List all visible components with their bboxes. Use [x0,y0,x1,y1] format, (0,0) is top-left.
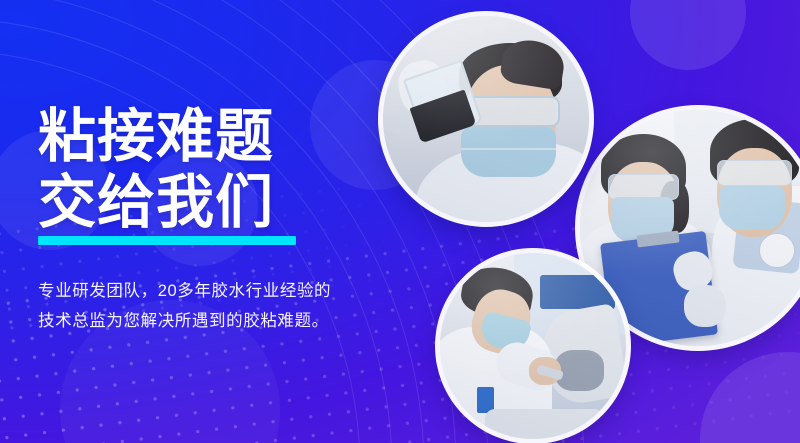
subtitle-line-2: 技术总监为您解决所遇到的胶粘难题。 [38,306,331,336]
glow-circle [700,352,800,443]
accent-underline-bar [38,236,296,245]
subtitle: 专业研发团队，20多年胶水行业经验的 技术总监为您解决所遇到的胶粘难题。 [38,276,331,336]
hero-banner: 粘接难题 交给我们 专业研发团队，20多年胶水行业经验的 技术总监为您解决所遇到… [0,0,800,443]
subtitle-line-1: 专业研发团队，20多年胶水行业经验的 [38,276,331,306]
photo-technician-applying-glue [440,253,626,439]
photo-chemist-with-beaker [383,16,589,222]
headline-line-2: 交给我们 [38,170,378,236]
hero-copy: 粘接难题 交给我们 专业研发团队，20多年胶水行业经验的 技术总监为您解决所遇到… [38,104,378,236]
glow-circle [630,0,746,70]
headline-line-1: 粘接难题 [38,104,378,170]
